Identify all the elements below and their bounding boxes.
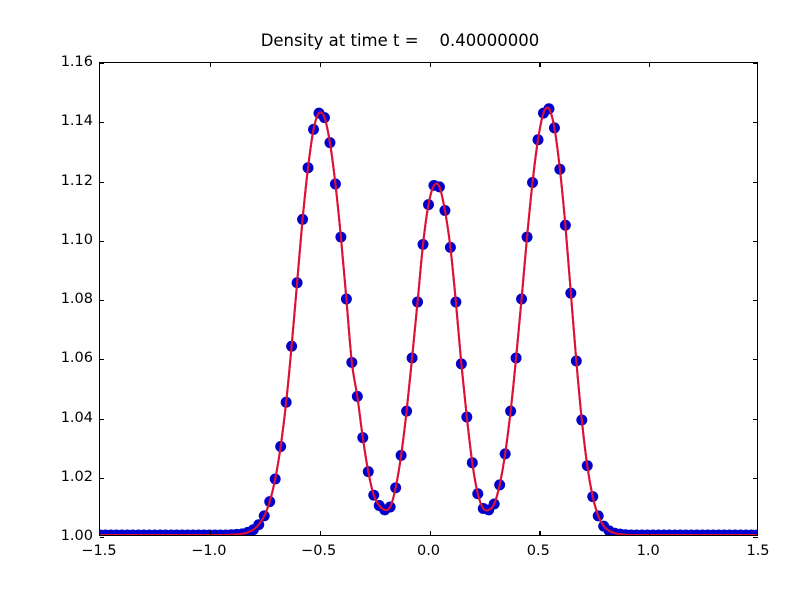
y-tick-mark-right — [753, 419, 758, 420]
y-tick-mark — [100, 359, 105, 360]
y-axis-tick-labels: 1.001.021.041.061.081.101.121.141.16 — [33, 62, 93, 536]
x-tick-label: −1.0 — [169, 543, 249, 559]
y-tick-label: 1.14 — [35, 113, 93, 129]
plot-area — [99, 62, 758, 536]
y-tick-mark — [100, 478, 105, 479]
y-tick-mark — [100, 419, 105, 420]
series-line-density — [100, 108, 757, 535]
y-tick-mark — [100, 182, 105, 183]
y-tick-mark — [100, 63, 105, 64]
x-tick-mark — [539, 531, 540, 536]
x-tick-label: 0.0 — [389, 543, 469, 559]
x-tick-label: 0.5 — [498, 543, 578, 559]
y-tick-mark-right — [753, 63, 758, 64]
y-tick-mark-right — [753, 359, 758, 360]
x-tick-mark-top — [320, 63, 321, 68]
y-tick-label: 1.06 — [35, 350, 93, 366]
x-tick-label: 1.0 — [608, 543, 688, 559]
y-tick-label: 1.04 — [35, 410, 93, 426]
x-tick-mark — [320, 531, 321, 536]
y-tick-label: 1.16 — [35, 54, 93, 70]
y-tick-mark-right — [753, 241, 758, 242]
y-tick-mark-right — [753, 537, 758, 538]
x-tick-mark — [210, 531, 211, 536]
series-markers-density — [100, 103, 757, 535]
y-tick-mark-right — [753, 300, 758, 301]
y-tick-label: 1.10 — [35, 232, 93, 248]
x-tick-label: −1.5 — [59, 543, 139, 559]
y-tick-label: 1.12 — [35, 173, 93, 189]
y-tick-mark — [100, 537, 105, 538]
y-tick-mark — [100, 241, 105, 242]
y-tick-label: 1.00 — [35, 528, 93, 544]
y-tick-mark — [100, 122, 105, 123]
x-tick-mark-top — [649, 63, 650, 68]
chart-title: Density at time t = 0.40000000 — [0, 31, 800, 50]
y-tick-mark — [100, 300, 105, 301]
plot-svg — [100, 63, 757, 535]
y-tick-mark-right — [753, 182, 758, 183]
y-tick-label: 1.08 — [35, 291, 93, 307]
y-tick-mark-right — [753, 122, 758, 123]
x-tick-mark — [649, 531, 650, 536]
x-tick-mark-top — [210, 63, 211, 68]
series-line-overlay-density — [100, 108, 757, 535]
y-tick-label: 1.02 — [35, 469, 93, 485]
y-tick-mark-right — [753, 478, 758, 479]
x-tick-label: 1.5 — [718, 543, 798, 559]
x-tick-label: −0.5 — [279, 543, 359, 559]
figure-canvas: Density at time t = 0.40000000 1.001.021… — [0, 0, 800, 600]
x-tick-mark-top — [430, 63, 431, 68]
x-tick-mark-top — [539, 63, 540, 68]
x-axis-tick-labels: −1.5−1.0−0.50.00.51.01.5 — [99, 543, 758, 567]
x-tick-mark — [430, 531, 431, 536]
